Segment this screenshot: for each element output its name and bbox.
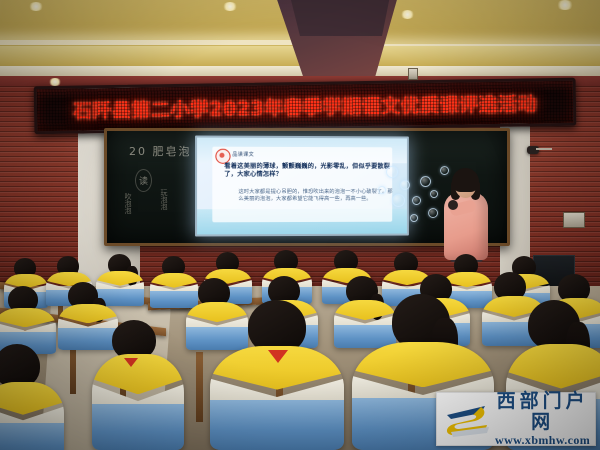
wall-socket-box (563, 212, 585, 228)
slide-section-tag: 品读课文 (232, 150, 254, 157)
ceiling-panel-left (0, 0, 314, 45)
watermark-url: www.xbmhw.com (495, 433, 590, 447)
student-uniform (92, 354, 184, 450)
blackboard-circle-1: 读 (135, 169, 152, 192)
watermark-text-block: 西部门户网 www.xbmhw.com (495, 391, 596, 447)
downlight-icon (556, 0, 574, 10)
downlight-icon (28, 2, 44, 11)
ceiling (0, 0, 600, 86)
soap-bubble-icon (410, 214, 418, 222)
student-uniform (58, 304, 118, 350)
watermark-logo-icon (441, 397, 495, 441)
teacher-hand-holding-bubble-wand (448, 200, 458, 210)
ceiling-speaker-icon (408, 68, 418, 80)
blackboard-column-2: 玩泡泡 (159, 189, 169, 210)
desk-leg (196, 352, 203, 422)
slide-question-text: 看着这美丽的薄球，颤颤巍巍的，光影零乱，但似乎要散裂了，大家心情怎样？ (224, 162, 402, 179)
watermark-site-name: 西部门户网 (495, 391, 590, 433)
projection-screen: 品读课文 看着这美丽的薄球，颤颤巍巍的，光影零乱，但似乎要散裂了，大家心情怎样？… (195, 136, 409, 237)
soap-bubble-icon (378, 186, 386, 194)
downlight-icon (400, 10, 415, 19)
soap-bubble-icon (386, 166, 398, 178)
soap-bubble-icon (430, 190, 438, 198)
red-seal-icon (215, 148, 230, 163)
blackboard-column-1: 吹泡泡 (123, 193, 133, 214)
blackboard-lesson-title: 20 肥皂泡 (129, 143, 192, 159)
teacher (440, 168, 492, 260)
student-uniform (0, 382, 64, 450)
soap-bubble-icon (428, 208, 438, 218)
ceiling-beam-shadow (290, 0, 390, 36)
watermark: 西部门户网 www.xbmhw.com (436, 392, 596, 446)
led-dot-matrix (37, 81, 574, 131)
soap-bubble-icon (400, 180, 410, 190)
slide-body-text: 这时大家都是提心吊胆的，惟恐吹出来的泡泡一不小心破裂了。那么美丽的泡泡，大家都希… (238, 189, 397, 204)
student-uniform (334, 300, 396, 348)
teacher-hair (452, 168, 479, 192)
soap-bubble-icon (392, 194, 405, 207)
downlight-icon (222, 2, 238, 11)
wall-camera-icon (527, 146, 539, 154)
led-banner: 石阡县第二小学2023年春季学期语文优质课评选活动 (34, 78, 577, 135)
slide-content-card: 品读课文 看着这美丽的薄球，颤颤巍巍的，光影零乱，但似乎要散裂了，大家心情怎样？… (212, 146, 392, 221)
student-uniform (186, 302, 248, 350)
classroom-photo: 石阡县第二小学2023年春季学期语文优质课评选活动 20 肥皂泡 读 写 想 吹… (0, 0, 600, 450)
soap-bubble-icon (420, 176, 431, 187)
downlight-icon (48, 78, 62, 86)
soap-bubble-icon (412, 196, 421, 205)
